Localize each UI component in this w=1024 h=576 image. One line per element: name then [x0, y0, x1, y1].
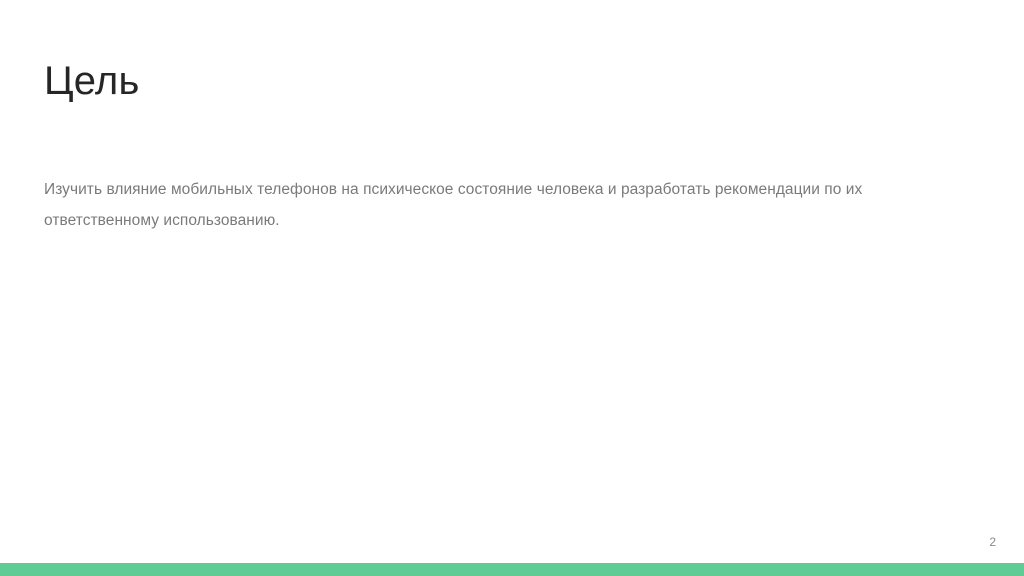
page-number: 2	[989, 535, 996, 549]
footer-accent-bar	[0, 563, 1024, 576]
page-title: Цель	[44, 58, 140, 104]
slide-canvas: Цель Изучить влияние мобильных телефонов…	[0, 0, 1024, 576]
slide-body-text: Изучить влияние мобильных телефонов на п…	[44, 174, 924, 236]
